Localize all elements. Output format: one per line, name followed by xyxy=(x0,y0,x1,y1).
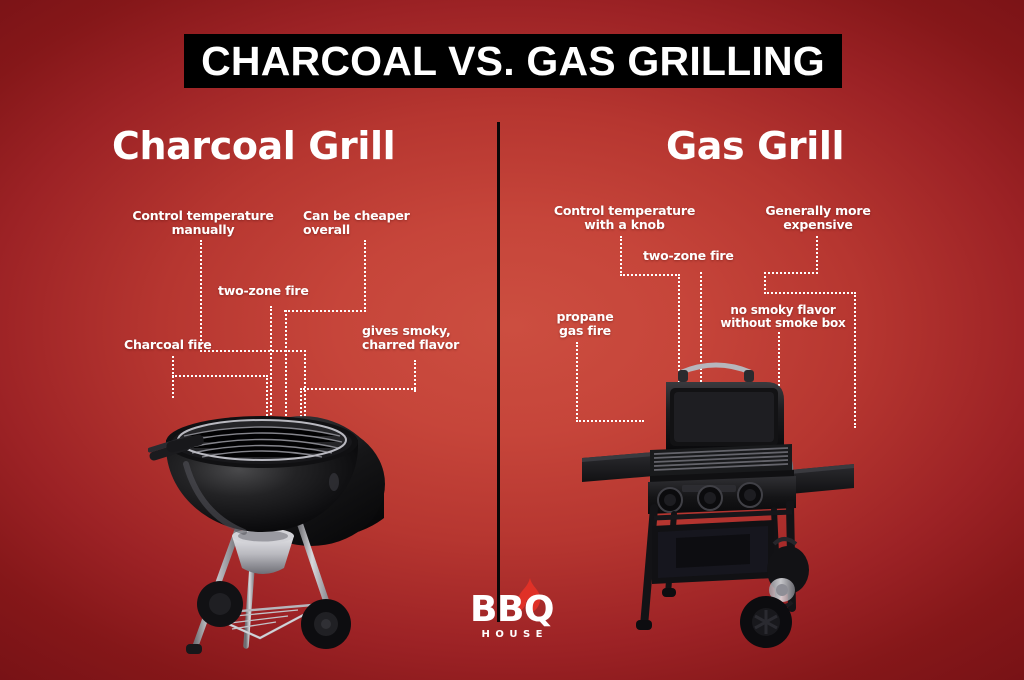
connector-charcoal-fire-horizontal xyxy=(172,375,268,377)
connector-charcoal-fire-vertical xyxy=(172,356,174,398)
label-propane-gas-fire: propane gas fire xyxy=(535,310,635,338)
label-no-smoky-flavor-without-smoke-box: no smoky flavor without smoke box xyxy=(712,304,854,331)
connector-gas-temp-horizontal xyxy=(620,274,680,276)
label-control-temperature-with-a-knob: Control temperature with a knob xyxy=(542,204,707,232)
column-heading-gas: Gas Grill xyxy=(666,124,844,168)
connector-gas-expensive-vertical xyxy=(816,236,818,274)
label-control-temperature-manually: Control temperature manually xyxy=(120,209,286,237)
infographic-canvas: CHARCOAL VS. GAS GRILLING Charcoal Grill… xyxy=(0,0,1024,680)
connector-charcoal-cheaper-vertical xyxy=(364,240,366,312)
gas-grill-image xyxy=(578,358,858,670)
label-gas-two-zone-fire: two-zone fire xyxy=(643,249,763,263)
title-banner: CHARCOAL VS. GAS GRILLING xyxy=(184,34,842,88)
label-gives-smoky-charred-flavor: gives smoky, charred flavor xyxy=(362,324,487,352)
label-generally-more-expensive: Generally more expensive xyxy=(756,204,880,232)
bbq-house-logo: BBQ HOUSE xyxy=(457,578,567,654)
connector-gas-expensive-mid xyxy=(764,272,766,294)
label-can-be-cheaper-overall: Can be cheaper overall xyxy=(303,209,431,237)
connector-charcoal-temp-vertical xyxy=(200,240,202,352)
label-two-zone-fire: two-zone fire xyxy=(218,284,338,298)
column-divider xyxy=(497,122,500,622)
connector-charcoal-smoky-horizontal xyxy=(300,388,416,390)
connector-gas-expensive-horizontal-2 xyxy=(764,292,856,294)
page-title: CHARCOAL VS. GAS GRILLING xyxy=(201,41,825,82)
charcoal-grill-image xyxy=(148,398,408,670)
logo-primary-text: BBQ xyxy=(457,592,567,628)
connector-charcoal-cheaper-horizontal xyxy=(284,310,366,312)
logo-secondary-text: HOUSE xyxy=(457,630,567,640)
connector-gas-temp-vertical xyxy=(620,236,622,276)
connector-gas-expensive-horizontal-1 xyxy=(764,272,818,274)
column-heading-charcoal: Charcoal Grill xyxy=(112,124,395,168)
label-charcoal-fire: Charcoal fire xyxy=(124,338,232,352)
